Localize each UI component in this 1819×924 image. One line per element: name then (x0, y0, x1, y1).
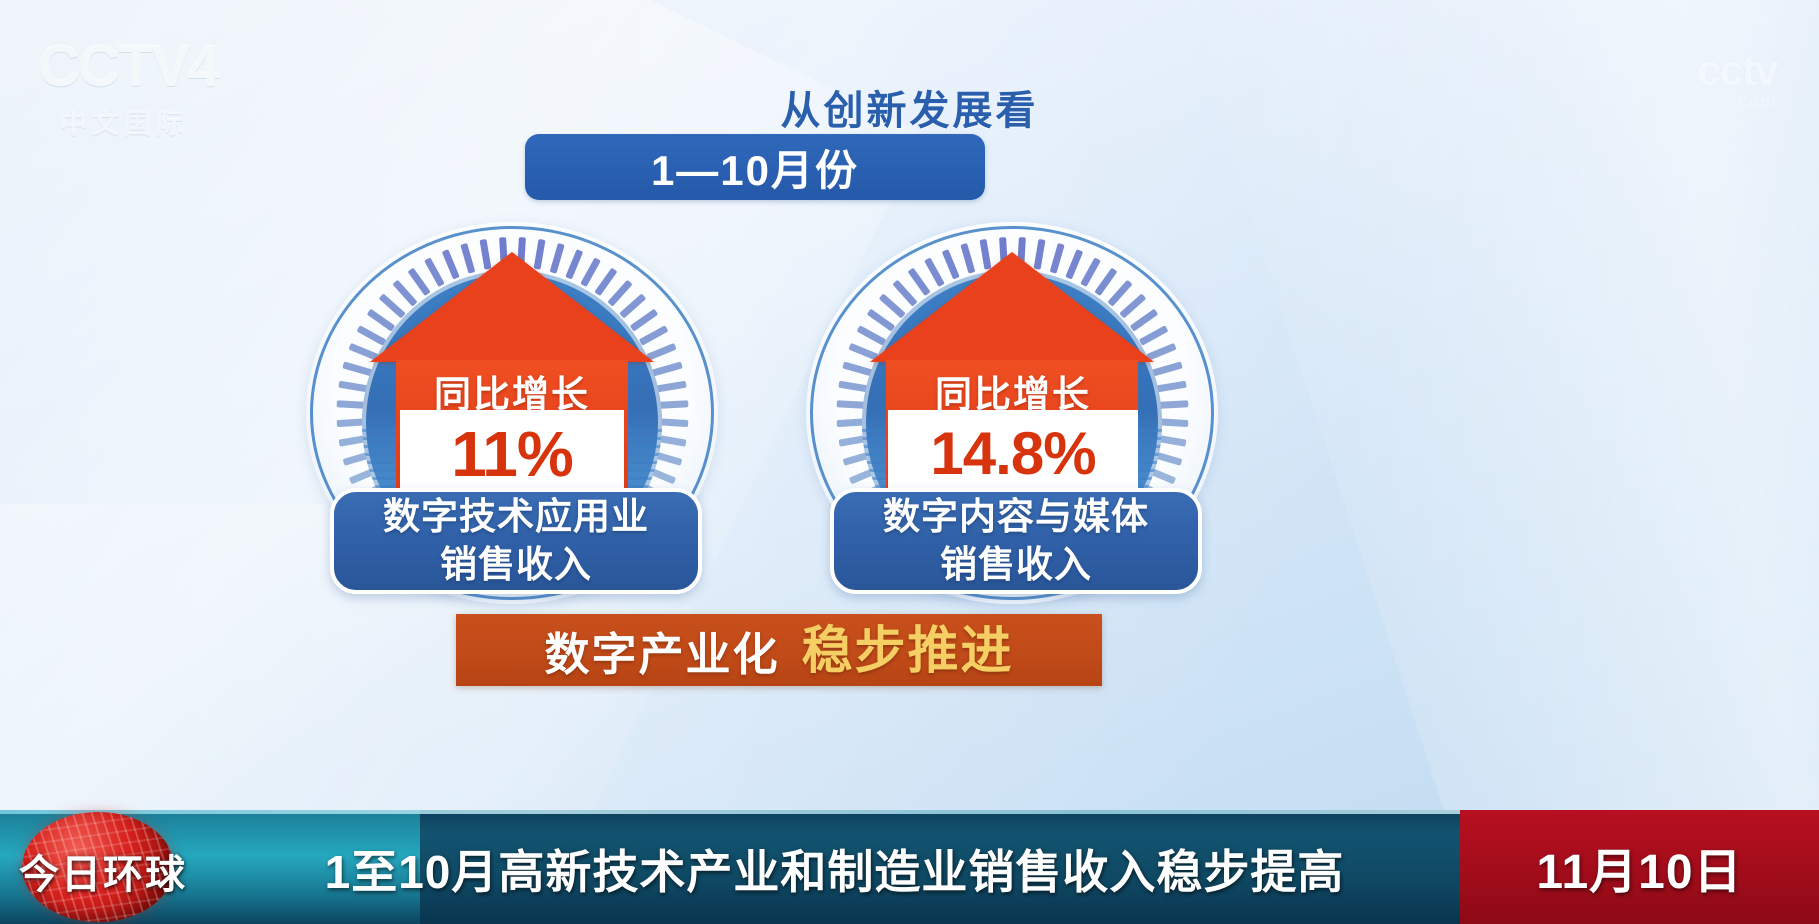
background-light-sweep-right (1166, 0, 1819, 924)
broadcast-screen: CCTV4 中文国际 cctv com 从创新发展看 1—10月份 同比增长 1… (0, 0, 1819, 924)
news-headline: 1至10月高新技术产业和制造业销售收入稳步提高 (222, 836, 1447, 902)
metric-caption-1-line1: 数字内容与媒体 (883, 493, 1149, 541)
conclusion-subject: 数字产业化 (544, 618, 779, 683)
arrow-head (370, 252, 654, 362)
metric-caption-0-line1: 数字技术应用业 (383, 493, 649, 541)
growth-value-box-1: 14.8% (888, 410, 1138, 498)
growth-value-box-0: 11% (400, 410, 624, 498)
lower-third: 今日环球 1至10月高新技术产业和制造业销售收入稳步提高 11月10日 (0, 810, 1819, 924)
program-name: 今日环球 (12, 842, 194, 900)
period-badge-label: 1—10月份 (651, 137, 859, 198)
metric-caption-0-line2: 销售收入 (440, 541, 592, 589)
date-label: 11月10日 (1536, 832, 1742, 902)
growth-value-0: 11% (451, 422, 573, 486)
metric-caption-0: 数字技术应用业 销售收入 (330, 488, 702, 594)
metric-caption-1-line2: 销售收入 (940, 541, 1092, 589)
metric-caption-1: 数字内容与媒体 销售收入 (830, 488, 1202, 594)
date-block: 11月10日 (1460, 810, 1819, 924)
arrow-head (870, 252, 1154, 362)
conclusion-status: 稳步推进 (802, 609, 1014, 683)
conclusion-banner: 数字产业化 稳步推进 (456, 614, 1102, 686)
page-title: 从创新发展看 (0, 78, 1819, 136)
growth-value-1: 14.8% (930, 424, 1095, 484)
period-badge: 1—10月份 (525, 134, 985, 200)
